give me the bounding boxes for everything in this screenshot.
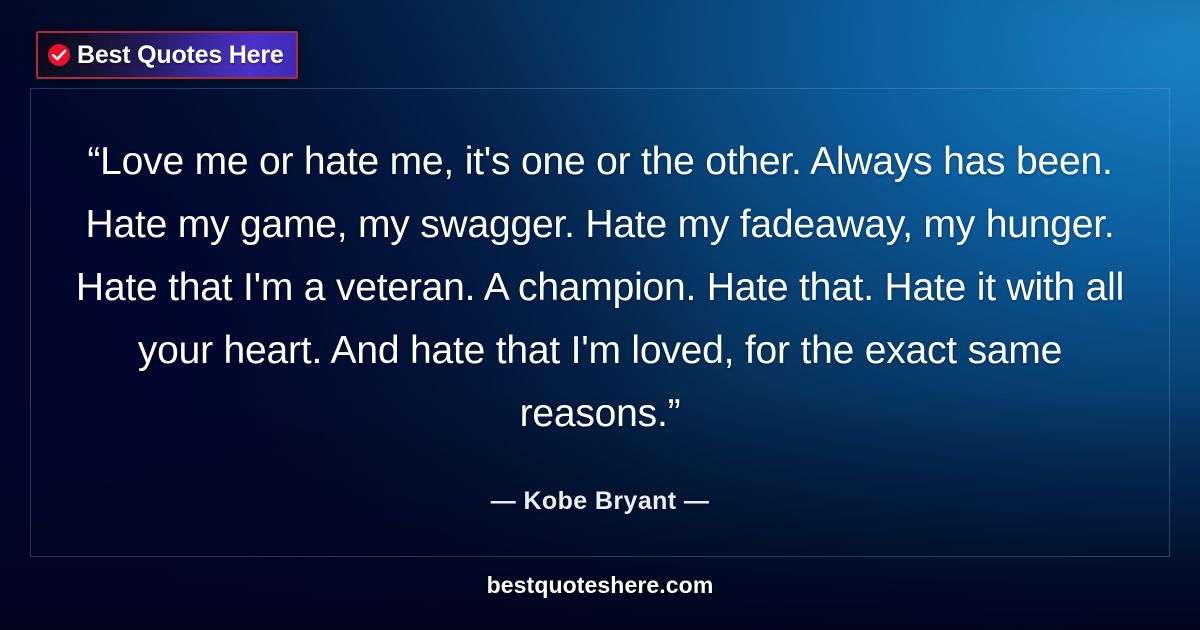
check-circle-icon	[47, 43, 71, 67]
quote-text: “Love me or hate me, it's one or the oth…	[60, 130, 1140, 445]
footer-website-label: bestquoteshere.com	[0, 572, 1200, 599]
quote-block: “Love me or hate me, it's one or the oth…	[60, 130, 1140, 516]
quote-attribution: — Kobe Bryant —	[60, 487, 1140, 516]
brand-badge[interactable]: Best Quotes Here	[36, 31, 298, 79]
quote-poster: Best Quotes Here “Love me or hate me, it…	[0, 0, 1200, 630]
brand-name-label: Best Quotes Here	[77, 43, 284, 68]
